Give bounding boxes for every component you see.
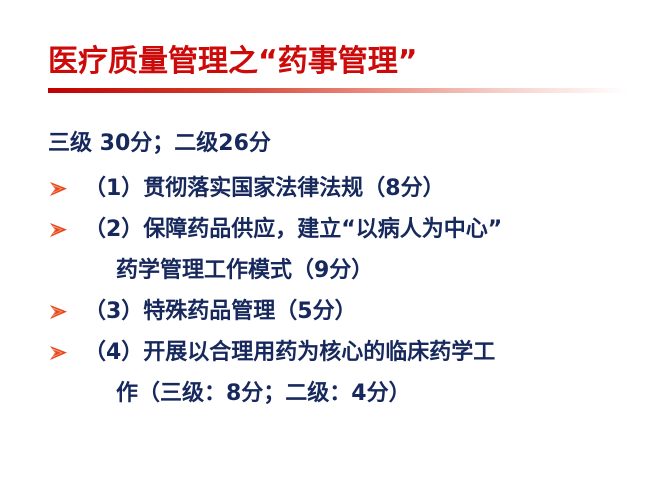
body-content: 三级 30分；二级26分 （1）贯彻落实国家法律法规（8分）: [48, 126, 633, 414]
list-item-label: （4）开展以合理用药为核心的临床药学工: [84, 332, 495, 373]
list-item-continuation-label: 作（三级：8分；二级：4分）: [116, 373, 411, 414]
list-item: （2）保障药品供应，建立“以病人为中心”: [48, 209, 633, 250]
list-item-continuation: 药学管理工作模式（9分）: [48, 250, 633, 291]
page-title: 医疗质量管理之“药事管理”: [48, 42, 618, 82]
score-summary-line: 三级 30分；二级26分: [48, 126, 633, 162]
list-item-label: （3）特殊药品管理（5分）: [84, 291, 357, 332]
list-item: （1）贯彻落实国家法律法规（8分）: [48, 168, 633, 209]
slide-canvas: 医疗质量管理之“药事管理” 三级 30分；二级26分 （1）贯彻落实国家法律法规…: [0, 0, 650, 492]
list-item-continuation: 作（三级：8分；二级：4分）: [48, 373, 633, 414]
arrow-right-bullet-icon: [48, 168, 84, 209]
title-underline-rule: [48, 88, 628, 93]
arrow-right-bullet-icon: [48, 209, 84, 250]
title-block: 医疗质量管理之“药事管理”: [48, 42, 618, 82]
list-item-continuation-label: 药学管理工作模式（9分）: [116, 250, 373, 291]
arrow-right-bullet-icon: [48, 332, 84, 373]
continuation-indent: [84, 373, 116, 414]
list-item-label: （2）保障药品供应，建立“以病人为中心”: [84, 209, 502, 250]
list-item-label: （1）贯彻落实国家法律法规（8分）: [84, 168, 445, 209]
continuation-indent: [84, 250, 116, 291]
bullet-spacer: [48, 373, 84, 414]
list-item: （4）开展以合理用药为核心的临床药学工: [48, 332, 633, 373]
arrow-right-bullet-icon: [48, 291, 84, 332]
bullet-spacer: [48, 250, 84, 291]
list-item: （3）特殊药品管理（5分）: [48, 291, 633, 332]
